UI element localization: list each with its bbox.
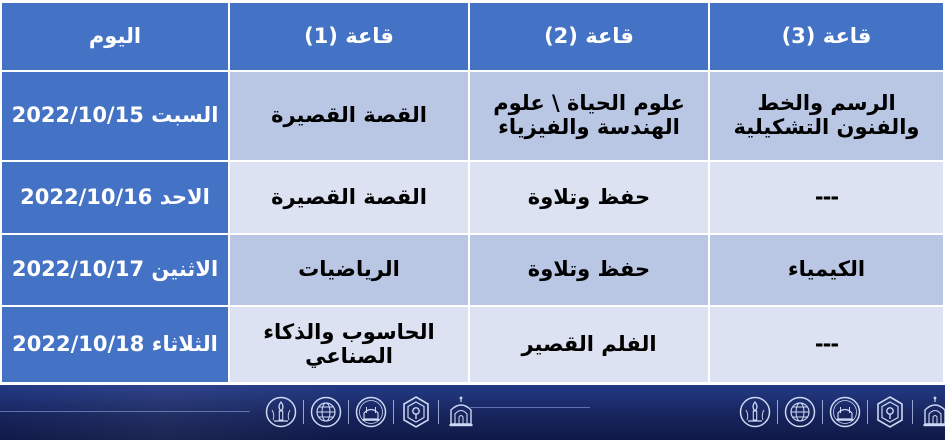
logo-separator: [433, 400, 444, 424]
logo-separator: [817, 400, 828, 424]
cell-hall2: علوم الحياة \ علوم الهندسة والفيزياء: [468, 72, 708, 162]
table-header: قاعة (3) قاعة (2) قاعة (1) اليوم: [0, 0, 945, 72]
hexagon-emblem-icon: [873, 395, 907, 429]
cell-hall3: ---: [708, 162, 945, 235]
column-header-hall3: قاعة (3): [708, 0, 945, 72]
gateway-emblem-icon: [444, 395, 478, 429]
logo-separator: [298, 400, 309, 424]
banner-hairline: [0, 411, 250, 412]
column-header-day: اليوم: [0, 0, 228, 72]
banner-hairline: [470, 407, 590, 408]
cell-hall3: الكيمياء: [708, 235, 945, 307]
header-row: قاعة (3) قاعة (2) قاعة (1) اليوم: [0, 0, 945, 72]
table-row: --- حفظ وتلاوة القصة القصيرة الاحد 2022/…: [0, 162, 945, 235]
cell-day: الثلاثاء 2022/10/18: [0, 307, 228, 384]
globe-emblem-icon: [783, 395, 817, 429]
table-row: الكيمياء حفظ وتلاوة الرياضيات الاثنين 20…: [0, 235, 945, 307]
table-body: الرسم والخط والفنون التشكيلية علوم الحيا…: [0, 72, 945, 384]
logo-separator: [907, 400, 918, 424]
logo-separator: [388, 400, 399, 424]
torch-emblem-icon: [264, 395, 298, 429]
logo-strip-left: [264, 391, 478, 433]
column-header-hall2: قاعة (2): [468, 0, 708, 72]
cell-hall1: القصة القصيرة: [228, 162, 468, 235]
table-row: --- الفلم القصير الحاسوب والذكاء الصناعي…: [0, 307, 945, 384]
mosque-emblem-icon: [828, 395, 862, 429]
cell-hall2: حفظ وتلاوة: [468, 162, 708, 235]
logo-separator: [772, 400, 783, 424]
cell-day: الاحد 2022/10/16: [0, 162, 228, 235]
hexagon-emblem-icon: [399, 395, 433, 429]
cell-hall1: الرياضيات: [228, 235, 468, 307]
cell-hall2: حفظ وتلاوة: [468, 235, 708, 307]
mosque-emblem-icon: [354, 395, 388, 429]
cell-hall3: الرسم والخط والفنون التشكيلية: [708, 72, 945, 162]
cell-day: الاثنين 2022/10/17: [0, 235, 228, 307]
torch-emblem-icon: [738, 395, 772, 429]
globe-emblem-icon: [309, 395, 343, 429]
logo-separator: [343, 400, 354, 424]
cell-day: السبت 2022/10/15: [0, 72, 228, 162]
cell-hall3: ---: [708, 307, 945, 384]
cell-hall1: الحاسوب والذكاء الصناعي: [228, 307, 468, 384]
gateway-emblem-icon: [918, 395, 945, 429]
logo-separator: [862, 400, 873, 424]
cell-hall2: الفلم القصير: [468, 307, 708, 384]
logo-strip-right: [738, 391, 945, 433]
table-row: الرسم والخط والفنون التشكيلية علوم الحيا…: [0, 72, 945, 162]
exam-schedule-table: قاعة (3) قاعة (2) قاعة (1) اليوم الرسم و…: [0, 0, 945, 384]
cell-hall1: القصة القصيرة: [228, 72, 468, 162]
column-header-hall1: قاعة (1): [228, 0, 468, 72]
footer-banner: [0, 385, 945, 440]
schedule-page: قاعة (3) قاعة (2) قاعة (1) اليوم الرسم و…: [0, 0, 945, 440]
